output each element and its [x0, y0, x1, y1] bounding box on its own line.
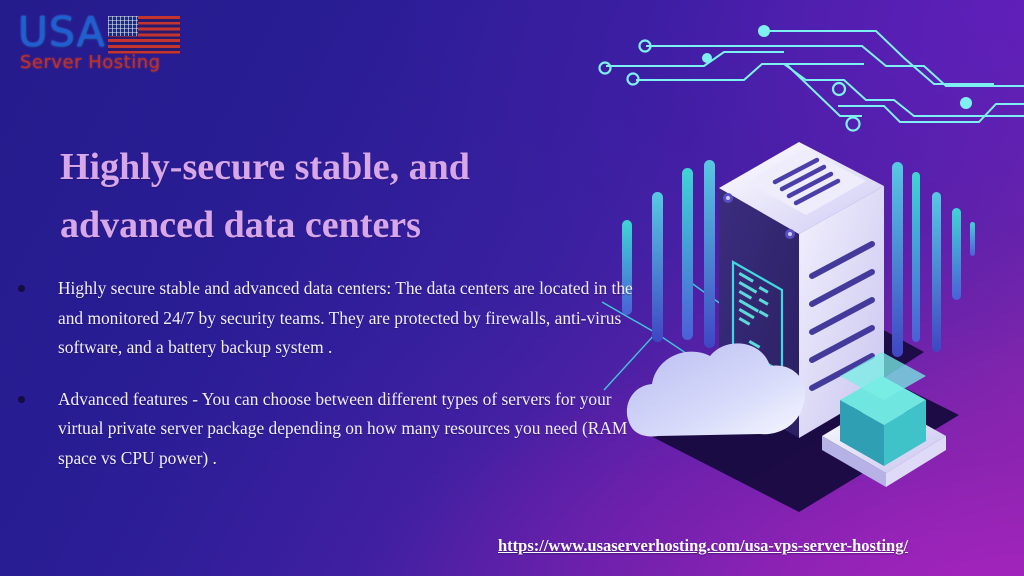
isometric-server-tower-illustration — [594, 0, 1024, 576]
circuit-lines-decoration — [594, 0, 1024, 150]
logo-brand-text: USA — [18, 10, 106, 54]
logo-tagline-text: Server Hosting — [20, 52, 161, 73]
footer-url-link[interactable]: https://www.usaserverhosting.com/usa-vps… — [498, 536, 908, 556]
flag-canton — [108, 16, 138, 36]
list-item-text: Advanced features - You can choose betwe… — [58, 385, 654, 474]
us-flag-icon — [108, 16, 180, 54]
page-title-line-2: advanced data centers — [60, 196, 660, 254]
bullet-list: Highly secure stable and advanced data c… — [14, 274, 654, 495]
slide-canvas: USA Server Hosting Highly-secure stable,… — [0, 0, 1024, 576]
brand-logo[interactable]: USA Server Hosting — [12, 8, 192, 80]
list-item-text: Highly secure stable and advanced data c… — [58, 274, 654, 363]
isometric-cube-illustration — [822, 352, 946, 487]
bullet-marker-icon — [18, 285, 25, 292]
list-item: Highly secure stable and advanced data c… — [14, 274, 654, 363]
list-item: Advanced features - You can choose betwe… — [14, 385, 654, 474]
page-title-line-1: Highly-secure stable, and — [60, 138, 660, 196]
page-title: Highly-secure stable, and advanced data … — [60, 138, 660, 254]
bullet-marker-icon — [18, 396, 25, 403]
artwork-panel — [594, 0, 1024, 576]
